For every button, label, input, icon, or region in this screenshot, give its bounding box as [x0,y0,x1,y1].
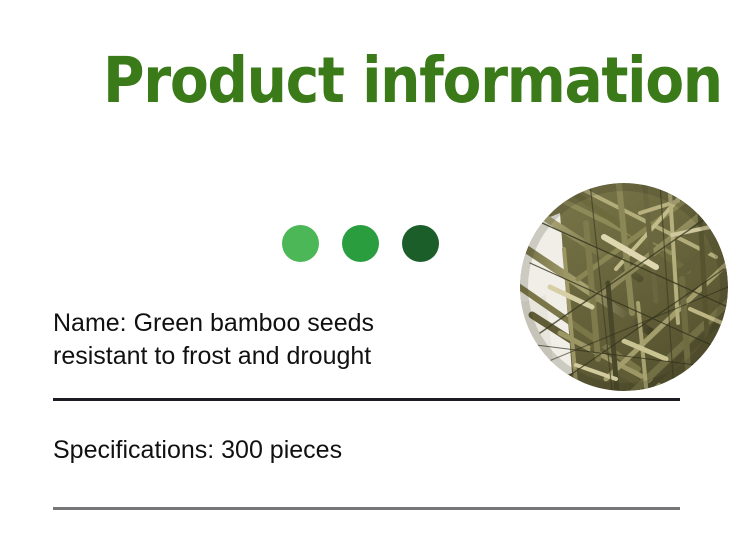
page-title: Product information [103,48,722,114]
dot-light-green [282,225,319,262]
bamboo-seeds-photo [520,183,728,391]
divider-top [53,398,680,401]
dot-medium-green [342,225,379,262]
bamboo-seeds-illustration [520,183,728,391]
dot-dark-green [402,225,439,262]
product-name-text: Name: Green bamboo seeds resistant to fr… [53,307,374,373]
divider-bottom [53,507,680,510]
decorative-dot-row [282,225,439,262]
product-specifications-text: Specifications: 300 pieces [53,434,342,467]
product-information-card: Product information [0,0,750,538]
